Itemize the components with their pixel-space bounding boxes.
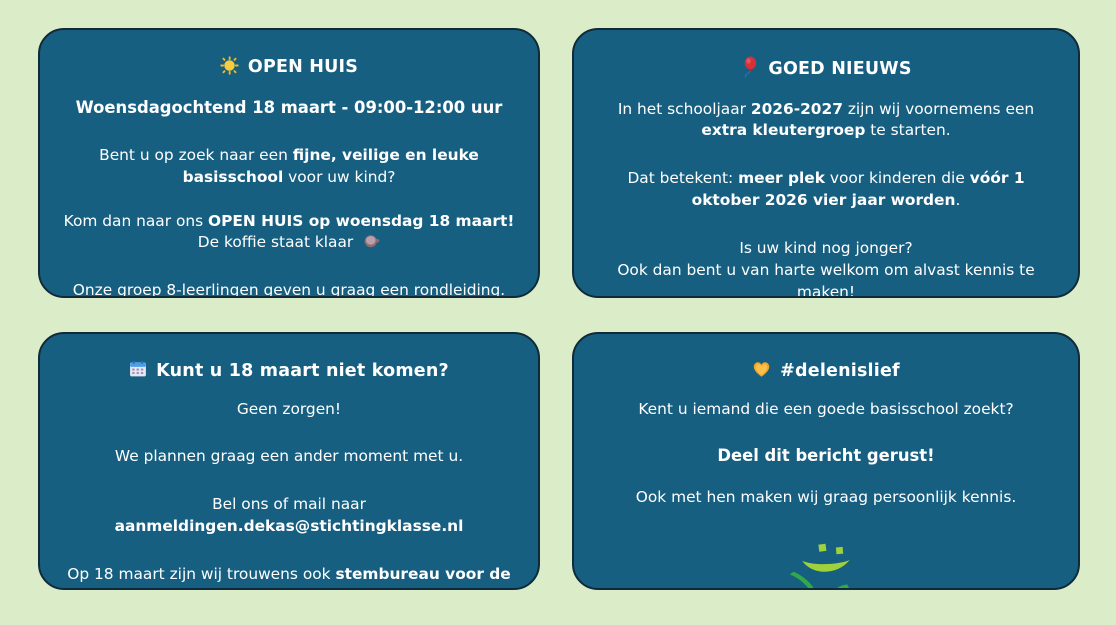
contact-email[interactable]: aanmeldingen.dekas@stichtingklasse.nl <box>115 517 464 535</box>
poster-board: OPEN HUIS Woensdagochtend 18 maart - 09:… <box>0 0 1116 625</box>
open-huis-datetime: Woensdagochtend 18 maart - 09:00-12:00 u… <box>76 96 503 119</box>
card-open-huis-title: OPEN HUIS <box>248 58 358 77</box>
card-niet-komen-header: Kunt u 18 maart niet komen? <box>129 360 449 383</box>
goed-nieuws-meerplek: Dat betekent: meer plek voor kinderen di… <box>594 168 1058 212</box>
open-huis-coffee-text: De koffie staat klaar <box>198 233 353 251</box>
open-huis-invite-emph: OPEN HUIS op woensdag 18 maart! <box>208 212 514 230</box>
niet-komen-contact: Bel ons of mail naar aanmeldingen.dekas@… <box>115 494 464 538</box>
sun-icon <box>220 56 239 80</box>
goed-nieuws-jonger: Is uw kind nog jonger? Ook dan bent u va… <box>594 238 1058 298</box>
goed-nieuws-meerplek-emph: meer plek <box>738 169 825 187</box>
goed-nieuws-p2: zijn wij voornemens een <box>843 100 1034 118</box>
goed-nieuws-meerplek-p2: voor kinderen die <box>825 169 970 187</box>
calendar-icon <box>129 360 147 383</box>
delen-question: Kent u iemand die een goede basisschool … <box>638 399 1013 421</box>
balloon-icon <box>740 56 759 83</box>
goed-nieuws-extra-group: extra kleutergroep <box>701 121 865 139</box>
open-huis-tour-line1: Onze groep 8-leerlingen geven u graag ee… <box>73 281 505 298</box>
card-goed-nieuws: GOED NIEUWS In het schooljaar 2026-2027 … <box>572 28 1080 298</box>
goed-nieuws-meerplek-p3: . <box>955 191 960 209</box>
heart-icon <box>752 360 771 383</box>
niet-komen-reschedule: We plannen graag een ander moment met u. <box>115 446 463 468</box>
open-huis-tour: Onze groep 8-leerlingen geven u graag ee… <box>73 280 505 298</box>
open-huis-question-part1: Bent u op zoek naar een <box>99 146 293 164</box>
open-huis-question: Bent u op zoek naar een fijne, veilige e… <box>60 145 518 189</box>
card-delen-is-lief: #delenislief Kent u iemand die een goede… <box>572 332 1080 590</box>
coffee-icon <box>353 233 380 251</box>
open-huis-question-part2: voor uw kind? <box>283 168 395 186</box>
niet-komen-contact-label: Bel ons of mail naar <box>212 495 366 513</box>
stembureau-p2: . <box>410 587 415 590</box>
goed-nieuws-jonger-line2: Ook dan bent u van harte welkom om alvas… <box>617 261 1034 298</box>
goed-nieuws-meerplek-p1: Dat betekent: <box>627 169 738 187</box>
card-goed-nieuws-title: GOED NIEUWS <box>768 60 911 79</box>
card-niet-komen: Kunt u 18 maart niet komen? Geen zorgen!… <box>38 332 540 590</box>
delen-cta: Deel dit bericht gerust! <box>717 446 934 465</box>
card-goed-nieuws-header: GOED NIEUWS <box>740 56 911 83</box>
card-open-huis: OPEN HUIS Woensdagochtend 18 maart - 09:… <box>38 28 540 298</box>
card-delen-is-lief-header: #delenislief <box>752 360 900 383</box>
niet-komen-reassure: Geen zorgen! <box>237 399 341 421</box>
stembureau-p1: Op 18 maart zijn wij trouwens ook <box>67 565 335 583</box>
card-delen-is-lief-title: #delenislief <box>780 362 900 381</box>
card-niet-komen-title: Kunt u 18 maart niet komen? <box>156 362 449 381</box>
goed-nieuws-schooljaar-years: 2026-2027 <box>751 100 843 118</box>
goed-nieuws-jonger-line1: Is uw kind nog jonger? <box>739 239 912 257</box>
open-huis-invite-part1: Kom dan naar ons <box>64 212 208 230</box>
goed-nieuws-p3: te starten. <box>865 121 950 139</box>
delen-closing: Ook met hen maken wij graag persoonlijk … <box>636 487 1016 509</box>
goed-nieuws-p1: In het schooljaar <box>618 100 751 118</box>
niet-komen-stembureau: Op 18 maart zijn wij trouwens ook stembu… <box>60 564 518 590</box>
goed-nieuws-schooljaar: In het schooljaar 2026-2027 zijn wij voo… <box>594 99 1058 143</box>
school-logo <box>783 537 869 590</box>
card-open-huis-header: OPEN HUIS <box>220 56 358 80</box>
open-huis-invite: Kom dan naar ons OPEN HUIS op woensdag 1… <box>64 211 515 255</box>
